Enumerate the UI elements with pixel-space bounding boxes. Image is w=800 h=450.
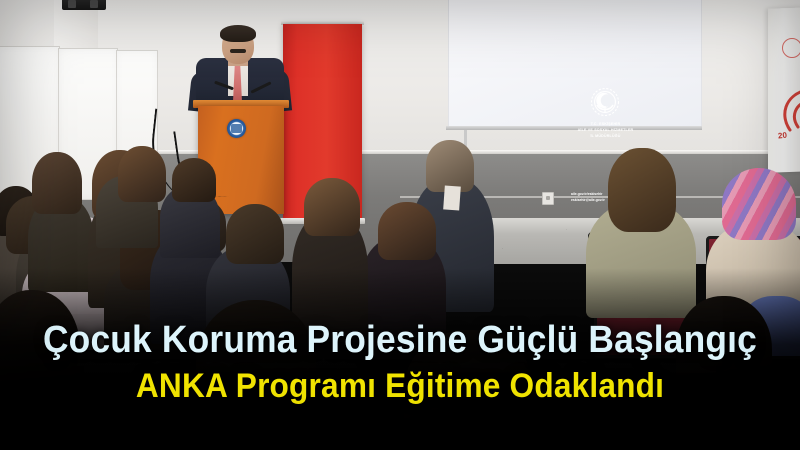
attendee-head xyxy=(226,204,284,264)
speaker-mustache xyxy=(230,49,246,53)
crescent-star-emblem-icon xyxy=(588,85,622,119)
attendee-head xyxy=(426,140,474,192)
attendee-head xyxy=(32,152,82,214)
speaker-hair xyxy=(220,25,256,42)
banner-circle-mark-icon xyxy=(782,38,800,58)
banner-org-line-2: AİLE VE SOSYAL HİZMETLER xyxy=(569,128,642,132)
banner-org-line-1: T.C. ESKİŞEHİR xyxy=(569,122,642,126)
headline-line-1: Çocuk Koruma Projesine Güçlü Başlangıç xyxy=(28,318,772,362)
projection-screen: ESKİ ESİ 1970 xyxy=(448,0,702,130)
news-photo-screenshot: ESKİ ESİ 1970 T.C. ESKİŞEHİR AİLE VE SOS… xyxy=(0,0,800,450)
university-seal-icon xyxy=(227,119,246,138)
attendee-head xyxy=(608,148,676,232)
attendee-head xyxy=(118,146,166,202)
banner-org-line-3: İL MÜDÜRLÜĞÜ xyxy=(569,134,642,138)
wall-outlet-icon xyxy=(542,192,554,205)
attendee-head xyxy=(304,178,360,236)
headline-overlay: Çocuk Koruma Projesine Güçlü Başlangıç A… xyxy=(0,318,800,406)
banner-year-text: 20 xyxy=(778,131,788,141)
projector-icon xyxy=(62,0,106,10)
headline-line-2: ANKA Programı Eğitime Odaklandı xyxy=(28,366,772,406)
attendee-collar xyxy=(443,185,461,210)
attendee-headscarf xyxy=(722,168,796,240)
attendee-head xyxy=(378,202,436,260)
swirl-logo-icon xyxy=(776,86,800,136)
attendee-head xyxy=(172,158,216,202)
